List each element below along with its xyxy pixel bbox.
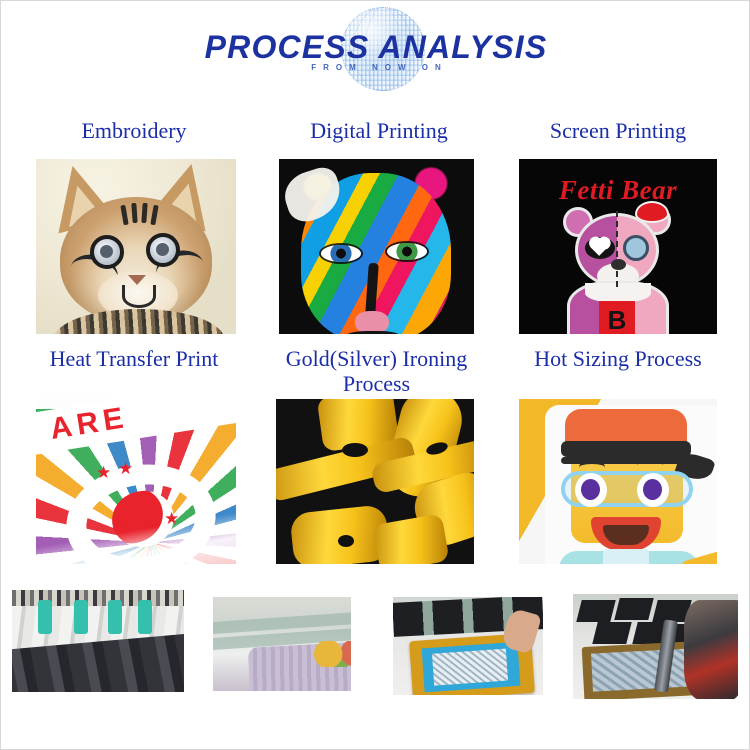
process-image-hot-sizing-process: [519, 399, 717, 564]
page-subtitle: FROM NOW ON: [1, 63, 750, 72]
factory-photo-embroidery-machines: [12, 590, 184, 692]
heat-transfer-artwork: ★ ★ ★ ★ ★ ARE: [36, 399, 236, 564]
process-title-hot-sizing-process: Hot Sizing Process: [493, 346, 743, 371]
process-title-gold-silver-ironing-process: Gold(Silver) Ironing Process: [269, 346, 484, 396]
bear-chest-mark: B: [599, 301, 635, 334]
process-title-heat-transfer-print: Heat Transfer Print: [9, 346, 259, 371]
process-analysis-page: PROCESS ANALYSIS FROM NOW ON Embroidery …: [0, 0, 750, 750]
process-title-digital-printing: Digital Printing: [254, 118, 504, 143]
fetti-bear-artwork-text: Fetti Bear: [519, 175, 717, 206]
embroidered-cat-artwork: [36, 159, 236, 334]
process-title-screen-printing: Screen Printing: [493, 118, 743, 143]
page-header: PROCESS ANALYSIS FROM NOW ON: [1, 1, 750, 105]
colour-face-artwork: [279, 159, 474, 334]
page-title: PROCESS ANALYSIS: [1, 31, 750, 63]
factory-photo-printing-tables: [213, 597, 351, 691]
process-image-embroidery: [36, 159, 236, 334]
process-image-heat-transfer-print: ★ ★ ★ ★ ★ ARE: [36, 399, 236, 564]
factory-photo-screen-frame-yellow: [393, 597, 543, 695]
process-image-gold-silver-ironing-process: [276, 399, 474, 564]
process-title-embroidery: Embroidery: [9, 118, 259, 143]
factory-photo-screen-printing-squeegee: [573, 594, 738, 699]
process-image-digital-printing: [279, 159, 474, 334]
process-image-screen-printing: Fetti Bear B: [519, 159, 717, 334]
